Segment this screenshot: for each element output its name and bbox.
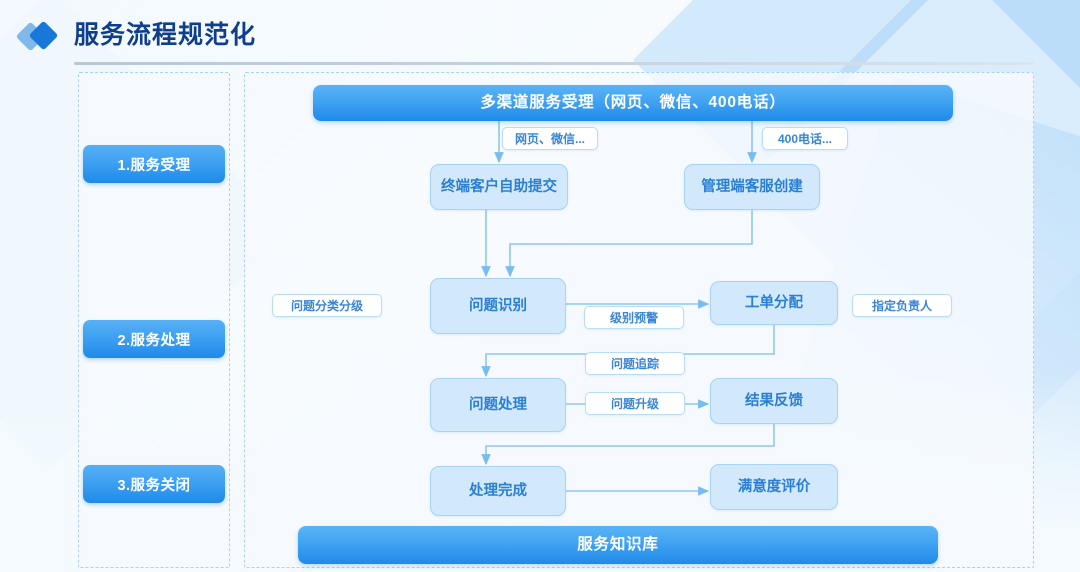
node-issue-handle[interactable]: 问题处理 xyxy=(430,378,566,432)
edge-label-classify: 问题分类分级 xyxy=(272,294,382,317)
node-knowledge-base[interactable]: 服务知识库 xyxy=(298,526,938,564)
phase-label-3[interactable]: 3.服务关闭 xyxy=(83,465,225,503)
double-diamond-icon xyxy=(18,20,70,52)
node-multichannel-intake[interactable]: 多渠道服务受理（网页、微信、400电话） xyxy=(313,85,953,121)
edge-label-hotline: 400电话... xyxy=(762,127,848,150)
page-header: 服务流程规范化 xyxy=(0,0,1080,68)
node-self-submit[interactable]: 终端客户自助提交 xyxy=(430,164,568,210)
node-issue-identify[interactable]: 问题识别 xyxy=(430,278,566,334)
node-ticket-assign[interactable]: 工单分配 xyxy=(710,281,838,325)
title-divider xyxy=(74,62,1034,65)
node-result-feedback[interactable]: 结果反馈 xyxy=(710,378,838,424)
edge-label-level-alert: 级别预警 xyxy=(584,306,684,329)
edge-label-owner: 指定负责人 xyxy=(852,294,952,317)
edge-label-web-wechat: 网页、微信... xyxy=(502,127,598,150)
edge-label-trace: 问题追踪 xyxy=(585,352,685,375)
flow-diagram: 多渠道服务受理（网页、微信、400电话） 终端客户自助提交 管理端客服创建 问题… xyxy=(244,72,1034,568)
phase-label-1[interactable]: 1.服务受理 xyxy=(83,145,225,183)
node-satisfaction-rating[interactable]: 满意度评价 xyxy=(710,464,838,510)
edge-label-escalate: 问题升级 xyxy=(585,392,685,415)
node-handling-complete[interactable]: 处理完成 xyxy=(430,466,566,516)
page-title: 服务流程规范化 xyxy=(74,15,256,51)
phase-label-2[interactable]: 2.服务处理 xyxy=(83,320,225,358)
node-agent-create[interactable]: 管理端客服创建 xyxy=(684,164,820,210)
